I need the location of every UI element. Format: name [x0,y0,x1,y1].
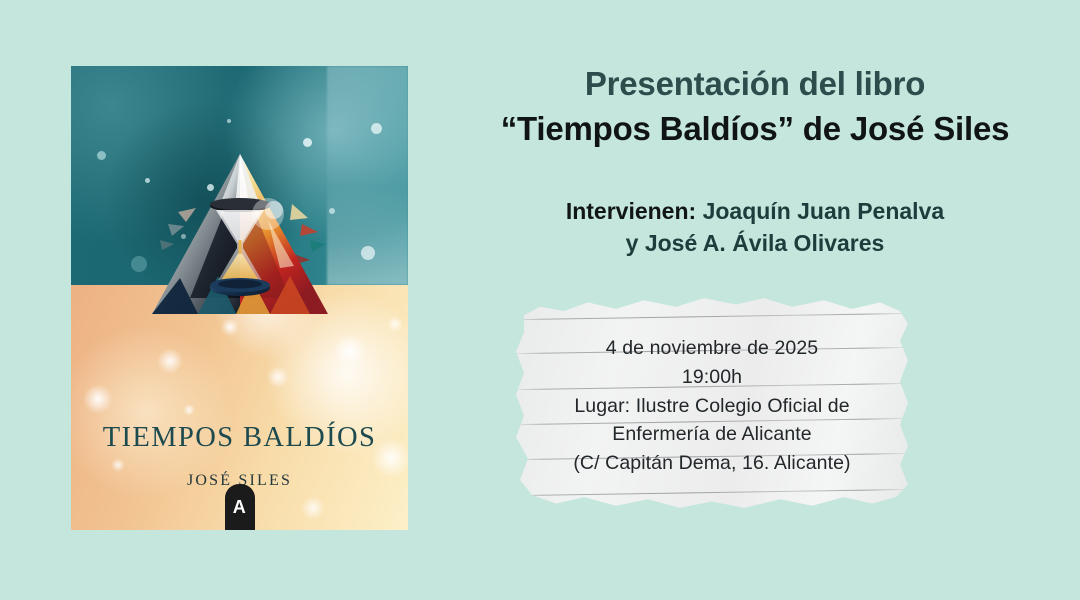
note-line: 4 de noviembre de 2025 [606,334,819,363]
headline-line-2: “Tiempos Baldíos” de José Siles [430,109,1080,150]
poster-canvas: TIEMPOS BALDÍOS JOSÉ SILES A Presentació… [0,0,1080,600]
speaker-name-1: Joaquín Juan Penalva [703,198,945,224]
speakers-label: Intervienen: [566,198,696,224]
headline-line-1: Presentación del libro [430,64,1080,105]
publisher-logo-letter: A [233,497,247,518]
note-line: (C/ Capitán Dema, 16. Alicante) [573,449,850,478]
cover-title: TIEMPOS BALDÍOS [71,422,408,454]
speakers-line-1: Intervienen: Joaquín Juan Penalva [430,196,1080,228]
speakers-line-2: y José A. Ávila Olivares [430,228,1080,260]
prism-triangle-hourglass-icon [140,148,340,324]
speakers-block: Intervienen: Joaquín Juan Penalva y José… [430,196,1080,259]
note-line: 19:00h [682,363,742,392]
headline-block: Presentación del libro “Tiempos Baldíos”… [430,64,1080,150]
book-cover-image: TIEMPOS BALDÍOS JOSÉ SILES A [71,66,408,530]
publisher-logo: A [225,484,255,530]
torn-paper-note: 4 de noviembre de 2025 19:00h Lugar: Ilu… [512,296,912,510]
note-line: Lugar: Ilustre Colegio Oficial de [574,392,849,421]
note-text-block: 4 de noviembre de 2025 19:00h Lugar: Ilu… [512,296,912,510]
note-line: Enfermería de Alicante [612,420,811,449]
